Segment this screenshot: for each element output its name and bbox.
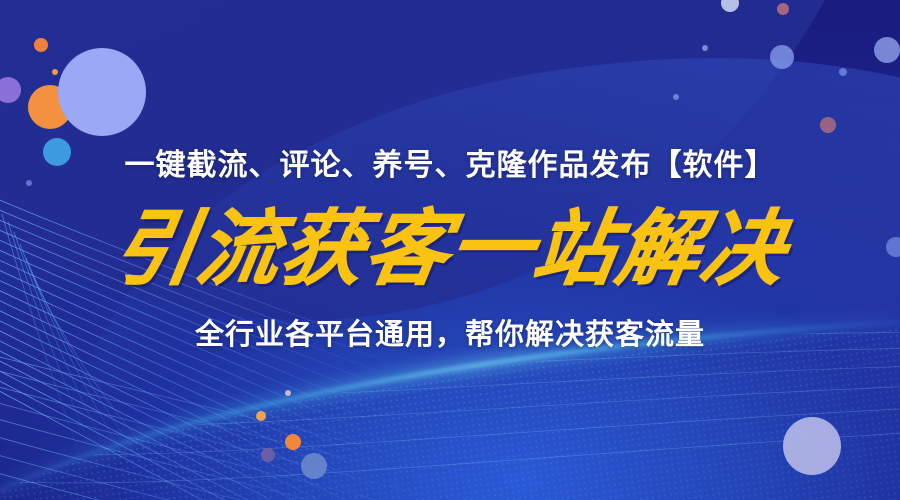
subtitle-bottom: 全行业各平台通用，帮你解决获客流量 <box>195 321 705 350</box>
banner-content: 一键截流、评论、养号、克隆作品发布【软件】 引流获客一站解决 全行业各平台通用，… <box>0 0 900 500</box>
headline: 引流获客一站解决 <box>108 209 793 291</box>
promo-banner: 一键截流、评论、养号、克隆作品发布【软件】 引流获客一站解决 全行业各平台通用，… <box>0 0 900 500</box>
subtitle-top: 一键截流、评论、养号、克隆作品发布【软件】 <box>125 151 776 181</box>
